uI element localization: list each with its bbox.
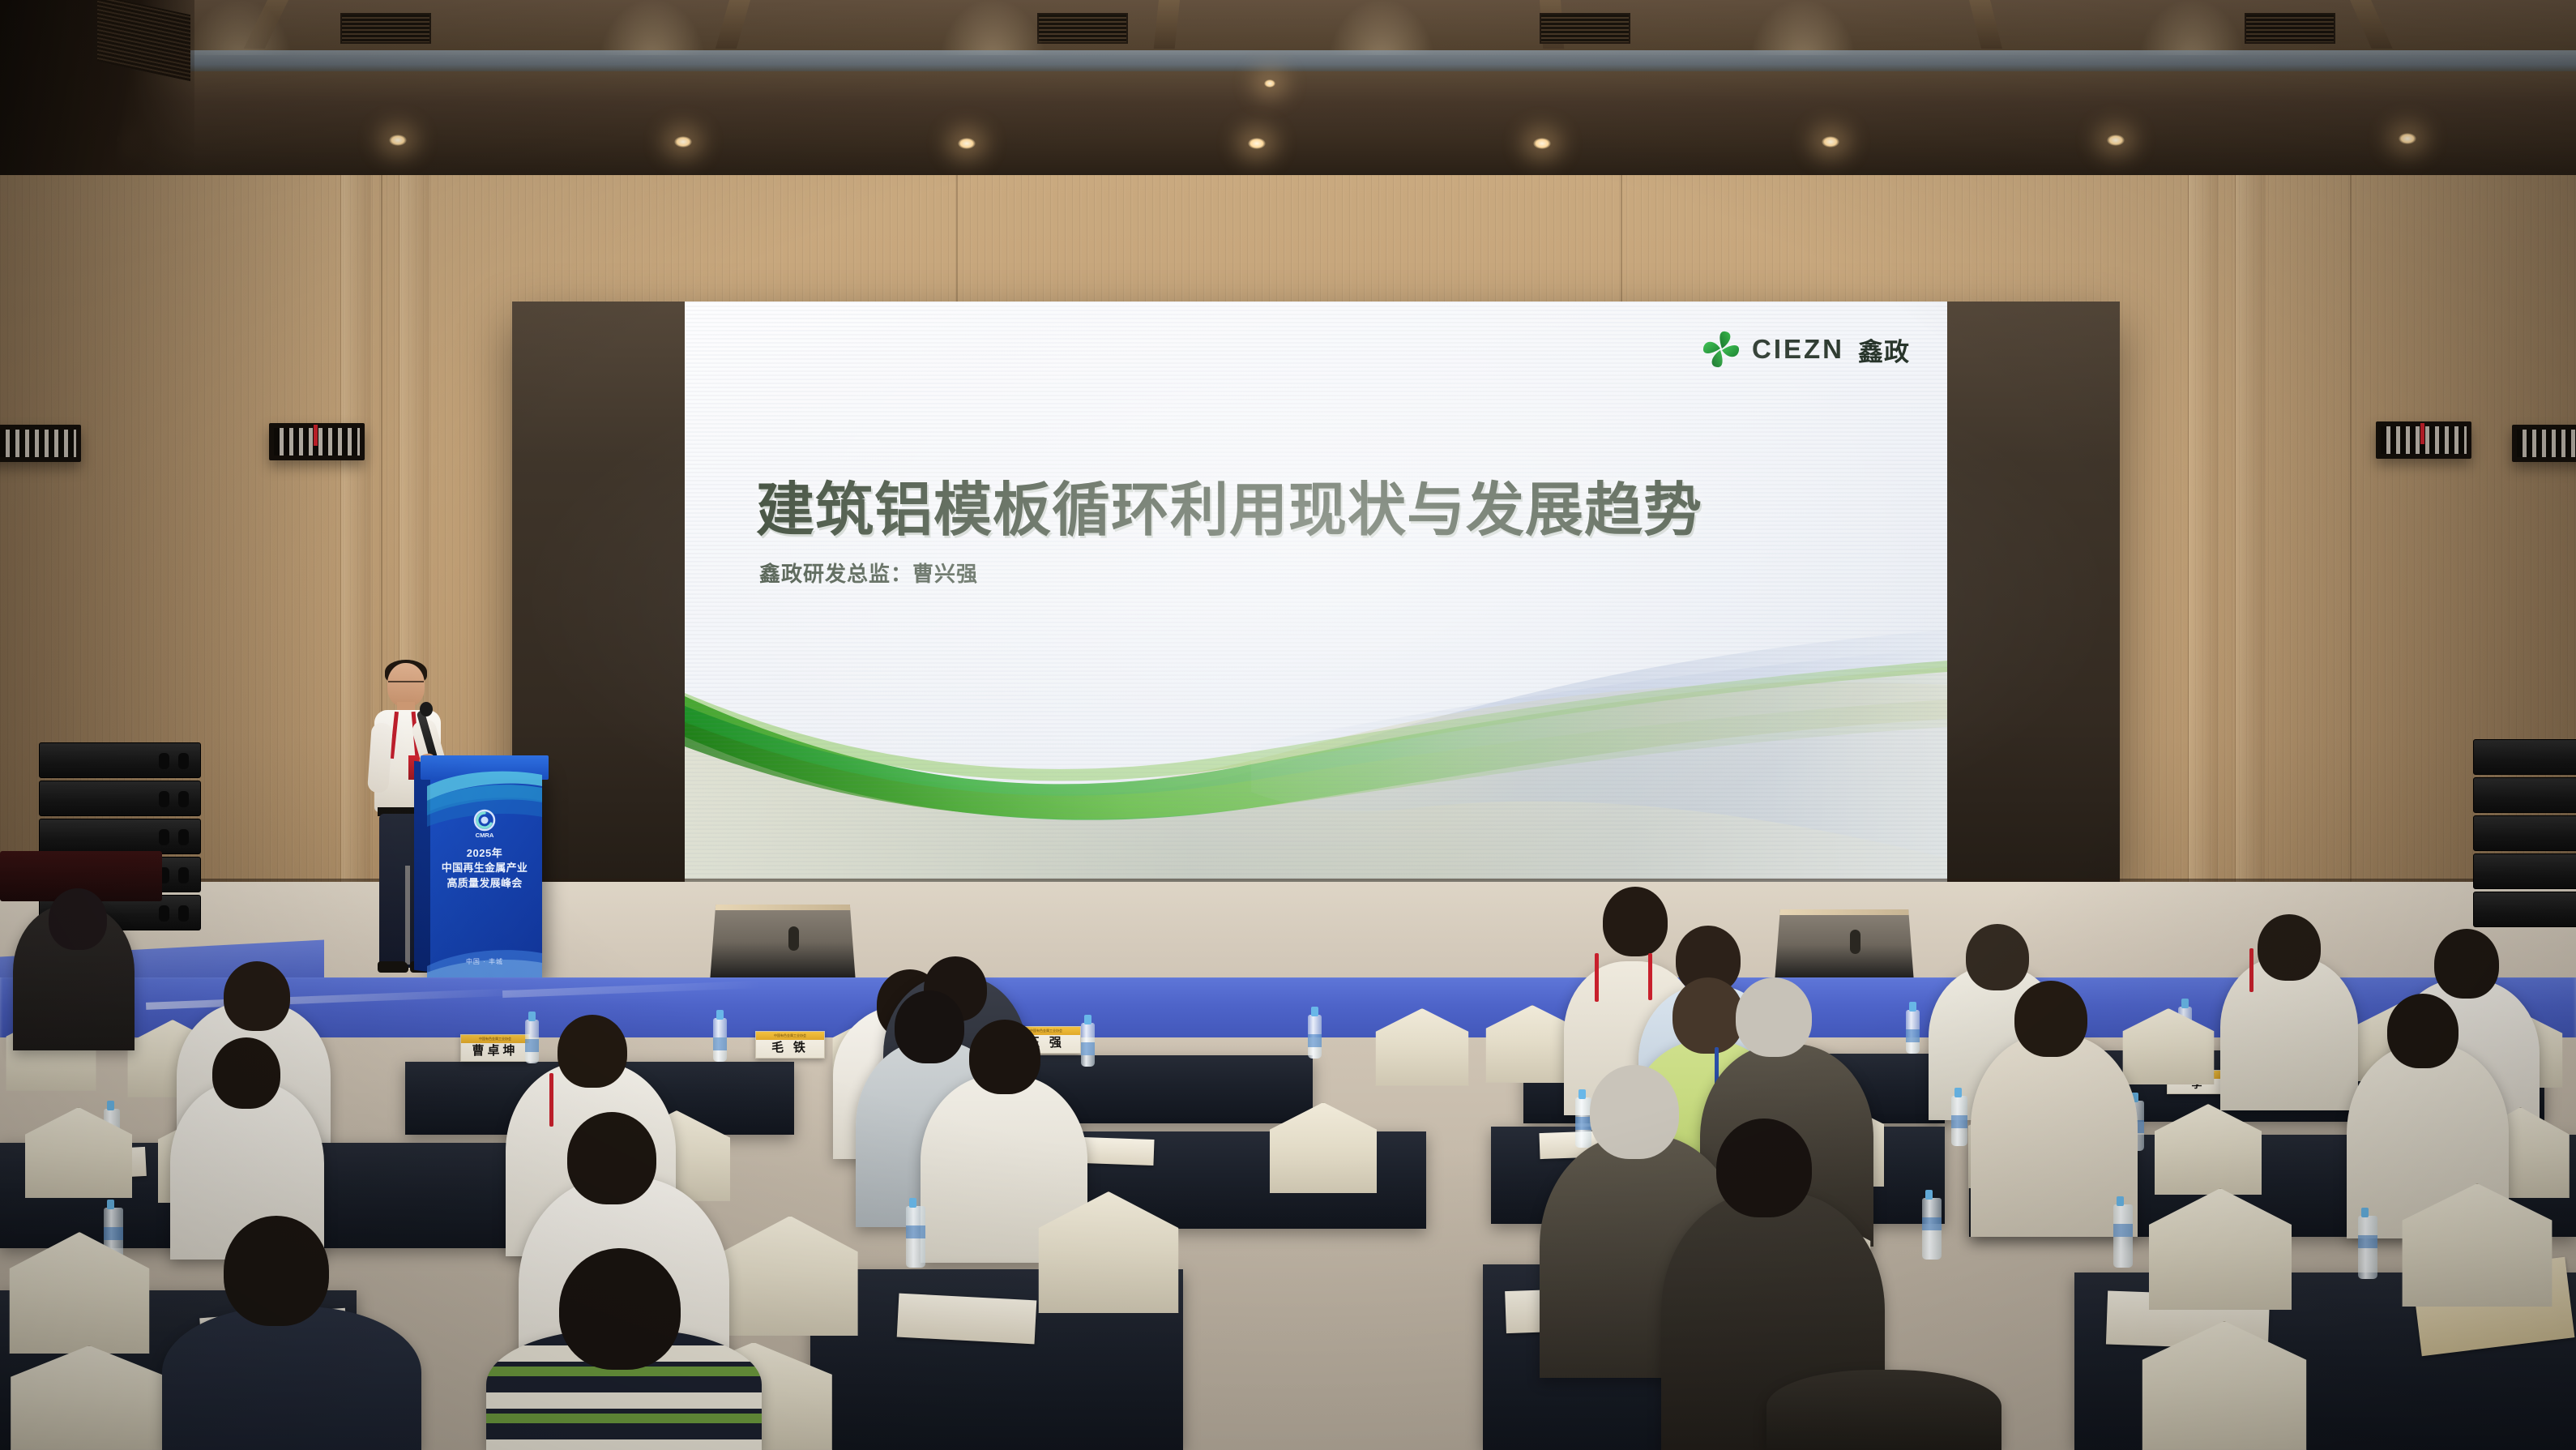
ceiling — [0, 0, 2576, 203]
audience-person-head — [1716, 1119, 1812, 1217]
speaker-module — [2473, 853, 2576, 889]
water-bottle — [1308, 1015, 1322, 1059]
placard-name-text: 毛 铁 — [771, 1038, 809, 1058]
speaker-module — [39, 781, 201, 816]
slide-logo-text: CIEZN — [1752, 334, 1844, 365]
slide-subtitle: 鑫政研发总监：曹兴强 — [759, 558, 978, 588]
audience-person-head — [1966, 924, 2029, 990]
speaker-module — [39, 819, 201, 854]
audience-person-head — [49, 888, 107, 950]
monitor-top-edge — [710, 905, 856, 910]
podium-org: 中国再生金属产业 — [427, 861, 542, 875]
svg-text:CMRA: CMRA — [476, 832, 494, 839]
audience-person-head — [1736, 977, 1812, 1057]
podium-glow-svg — [427, 926, 542, 977]
wall-vent-grille — [2376, 421, 2471, 459]
lanyard-strap — [1595, 953, 1599, 1002]
monitor-handle — [788, 926, 799, 951]
downlight — [2399, 133, 2416, 144]
pinwheel-leaf-logo-icon — [1701, 329, 1741, 370]
monitor-handle — [1850, 930, 1860, 954]
audience-person-head — [2434, 929, 2499, 999]
audience-person-head — [2014, 981, 2087, 1057]
lanyard-strap — [549, 1073, 553, 1127]
downlight — [1248, 138, 1266, 149]
screen-side-panel-right — [1947, 302, 2120, 883]
downlight — [674, 136, 692, 148]
ceiling-grille-vent — [1037, 13, 1128, 44]
presenter-shoe — [378, 961, 408, 973]
water-bottle — [1081, 1023, 1095, 1067]
audience-person-head — [557, 1015, 627, 1088]
podium-event-text: 2025年 中国再生金属产业 高质量发展峰会 — [427, 846, 542, 891]
slide-logo-text-cn: 鑫政 — [1858, 331, 1910, 368]
audience-person-head — [969, 1020, 1040, 1094]
placard-org-strip: 中国有色金属工业协会 — [461, 1035, 529, 1043]
audience-person — [1766, 1370, 2001, 1450]
stage-floor-monitor-right — [1775, 909, 1914, 982]
speaker-module — [2473, 777, 2576, 813]
monitor-top-edge — [1775, 909, 1914, 915]
water-bottle — [1951, 1096, 1967, 1146]
presentation-slide: CIEZN 鑫政 建筑铝模板循环利用现状与发展趋势 鑫政研发总监：曹兴强 — [685, 302, 1947, 883]
lanyard-strap — [2249, 948, 2253, 992]
ceiling-grille-vent — [1540, 13, 1630, 44]
water-bottle — [713, 1018, 727, 1062]
line-array-speaker-right — [2473, 739, 2576, 927]
speaker-module — [2473, 892, 2576, 927]
cmra-logo-svg: CMRA — [468, 807, 501, 840]
water-bottle — [1906, 1010, 1920, 1054]
water-bottle — [2113, 1204, 2133, 1268]
placard-org-strip: 中国有色金属工业协会 — [756, 1032, 824, 1040]
ceiling-soffit — [0, 71, 2576, 175]
conference-hall-scene: CIEZN 鑫政 建筑铝模板循环利用现状与发展趋势 鑫政研发总监：曹兴强 — [0, 0, 2576, 1450]
podium-event: 高质量发展峰会 — [427, 876, 542, 891]
audience-person-head — [224, 1216, 329, 1326]
lectern-podium: CMRA 2025年 中国再生金属产业 高质量发展峰会 中国 · 丰城 — [427, 768, 542, 977]
wall-vent-grille — [0, 425, 81, 462]
speaker-module — [2473, 739, 2576, 775]
audience-person-head — [224, 961, 290, 1031]
audience-person-head — [2387, 994, 2459, 1068]
ceiling-grille-vent — [340, 13, 431, 44]
wave-svg — [685, 615, 1947, 883]
water-bottle — [1922, 1198, 1942, 1260]
stage-edge-light-streak — [146, 988, 519, 1010]
speaker-module — [39, 742, 201, 778]
audience-person-head — [212, 1037, 280, 1109]
slide-title: 建筑铝模板循环利用现状与发展趋势 — [756, 462, 1702, 547]
downlight — [958, 138, 976, 149]
wall-vent-grille — [269, 423, 365, 460]
water-bottle — [1575, 1097, 1591, 1148]
downlight — [1822, 136, 1839, 148]
audience-person-head — [559, 1248, 681, 1370]
water-bottle — [2358, 1216, 2377, 1279]
led-video-wall: CIEZN 鑫政 建筑铝模板循环利用现状与发展趋势 鑫政研发总监：曹兴强 — [512, 302, 2120, 883]
audience-person-head — [895, 990, 964, 1063]
podium-location: 中国 · 丰城 — [427, 957, 542, 966]
audience-person-head — [1603, 887, 1668, 956]
placard-name-text: 曹卓坤 — [472, 1042, 518, 1061]
glasses-icon — [388, 681, 424, 688]
name-placard: 中国有色金属工业协会 曹卓坤 — [460, 1034, 530, 1062]
audience-person — [162, 1307, 421, 1450]
downlight — [1533, 138, 1551, 149]
presenter-leg-gap — [405, 866, 410, 965]
vent-indicator-icon — [314, 425, 318, 446]
stage-edge-light-streak — [502, 981, 762, 998]
downlight — [2107, 135, 2125, 146]
handout-paper — [897, 1294, 1037, 1345]
audience-person-head — [2258, 914, 2321, 981]
audience-person-head — [1590, 1065, 1679, 1159]
cmra-logo-icon: CMRA — [468, 807, 501, 840]
slide-wave-graphic — [685, 615, 1947, 883]
audience-person-head — [567, 1112, 656, 1204]
stage-floor-monitor-left — [710, 905, 856, 982]
audience-person-head — [1672, 977, 1744, 1054]
downlight — [389, 135, 407, 146]
podium-bottom-glow — [427, 926, 542, 977]
water-bottle — [906, 1206, 925, 1268]
vent-indicator-icon — [2420, 423, 2424, 444]
lanyard-strap — [1648, 953, 1652, 1000]
ceiling-sensor-light — [1264, 79, 1275, 88]
ceiling-grille-vent — [2245, 13, 2335, 44]
water-bottle — [525, 1020, 539, 1063]
logo-svg — [1701, 329, 1741, 370]
microphone-head-icon — [420, 702, 433, 716]
podium-year: 2025年 — [427, 846, 542, 861]
wall-vent-grille — [2512, 425, 2576, 462]
speaker-module — [2473, 815, 2576, 851]
name-placard: 中国有色金属工业协会 毛 铁 — [755, 1031, 825, 1059]
slide-brand-logo: CIEZN 鑫政 — [1701, 329, 1910, 370]
